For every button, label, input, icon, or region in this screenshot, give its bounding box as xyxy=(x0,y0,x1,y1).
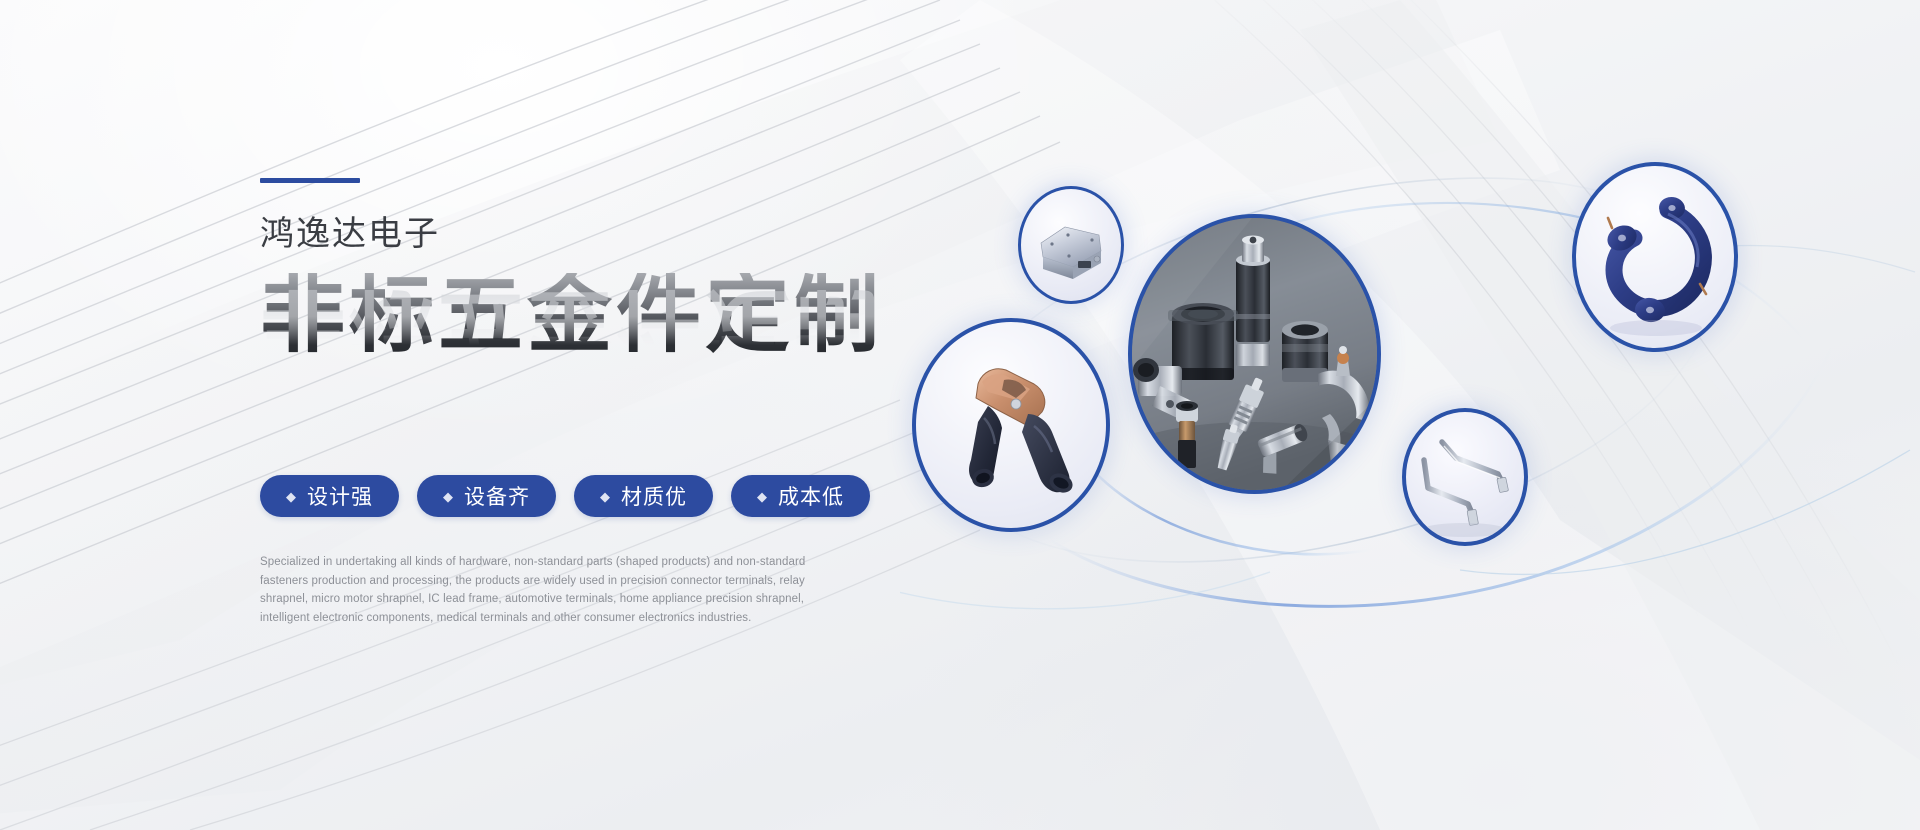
diamond-icon: ◆ xyxy=(600,490,611,503)
hero-copy: 鸿逸达电子 非标五金件定制 非标五金件定制 ◆ 设计强 ◆ 设备齐 ◆ 材质优 … xyxy=(260,178,900,628)
page-title: 非标五金件定制 xyxy=(260,273,900,358)
product-bubble-metal-housing[interactable] xyxy=(1018,186,1124,304)
feature-badge-cost[interactable]: ◆ 成本低 xyxy=(731,475,870,517)
product-showcase xyxy=(900,120,1920,680)
bent-metal-terminals-icon xyxy=(1406,412,1524,542)
diamond-icon: ◆ xyxy=(286,490,297,503)
product-bubble-snap-ring[interactable] xyxy=(1572,162,1738,352)
copper-battery-clamp-icon xyxy=(916,322,1106,528)
headline-block: 非标五金件定制 非标五金件定制 xyxy=(260,273,900,401)
accent-rule xyxy=(260,178,360,183)
metal-housing-icon xyxy=(1021,189,1121,301)
feature-badge-label: 设备齐 xyxy=(464,481,530,511)
product-bubble-copper-clamp[interactable] xyxy=(912,318,1110,532)
product-bubble-terminals[interactable] xyxy=(1402,408,1528,546)
feature-badge-equipment[interactable]: ◆ 设备齐 xyxy=(417,475,556,517)
company-description: Specialized in undertaking all kinds of … xyxy=(260,553,820,628)
snap-retaining-ring-icon xyxy=(1576,166,1734,348)
diamond-icon: ◆ xyxy=(757,490,768,503)
precision-machined-parts-icon xyxy=(1132,218,1377,490)
feature-badge-design[interactable]: ◆ 设计强 xyxy=(260,475,399,517)
feature-badge-list: ◆ 设计强 ◆ 设备齐 ◆ 材质优 ◆ 成本低 xyxy=(260,475,900,517)
feature-badge-label: 设计强 xyxy=(307,481,373,511)
feature-badge-material[interactable]: ◆ 材质优 xyxy=(574,475,713,517)
product-bubble-precision-parts[interactable] xyxy=(1128,214,1381,494)
feature-badge-label: 材质优 xyxy=(621,481,687,511)
brand-name: 鸿逸达电子 xyxy=(260,217,900,251)
diamond-icon: ◆ xyxy=(443,490,454,503)
hero-banner: 鸿逸达电子 非标五金件定制 非标五金件定制 ◆ 设计强 ◆ 设备齐 ◆ 材质优 … xyxy=(0,0,1920,830)
feature-badge-label: 成本低 xyxy=(778,481,844,511)
